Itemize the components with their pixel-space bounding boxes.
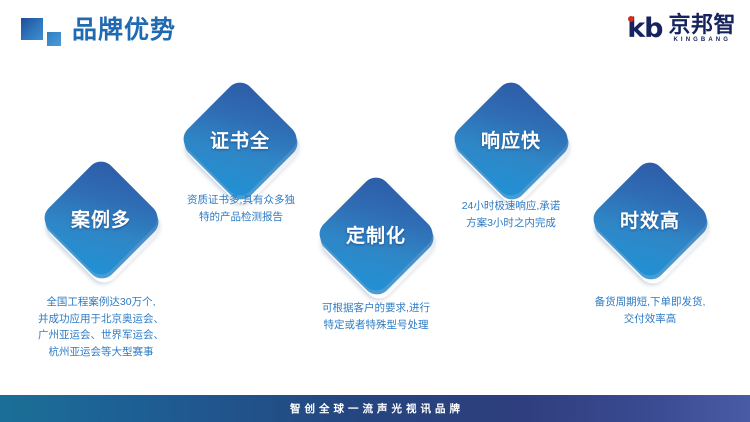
advantage-description-4: 24小时极速响应,承诺 方案3小时之内完成 [418,198,604,231]
advantage-card-5[interactable]: 时效高 [606,175,694,263]
advantage-label: 证书全 [196,95,284,183]
footer-slogan: 智创全球一流声光视讯品牌 [0,395,750,422]
brand-logo: kb 京邦智 KINGBANG [627,13,736,45]
advantage-card-4[interactable]: 响应快 [467,95,555,183]
advantage-label: 时效高 [606,175,694,263]
advantage-label: 响应快 [467,95,555,183]
advantage-description-3: 可根据客户的要求,进行 特定或者特殊型号处理 [283,300,469,333]
advantage-label: 案例多 [57,174,145,262]
decor-square-small-icon [47,32,61,46]
logo-brand-block: 京邦智 KINGBANG [668,14,736,44]
advantage-description-5: 备货周期短,下单即发货, 交付效率高 [557,294,743,327]
slide-header: 品牌优势 kb 京邦智 KINGBANG [0,0,750,58]
advantage-card-1[interactable]: 案例多 [57,174,145,262]
advantage-card-3[interactable]: 定制化 [332,190,420,278]
advantage-card-2[interactable]: 证书全 [196,95,284,183]
slide-footer: 智创全球一流声光视讯品牌 [0,395,750,422]
logo-mark: kb [627,14,662,44]
logo-brand-en: KINGBANG [668,36,736,44]
title-decoration [21,18,65,48]
advantage-label: 定制化 [332,190,420,278]
page-title: 品牌优势 [72,13,176,47]
decor-square-large-icon [21,18,43,40]
advantage-description-1: 全国工程案例达30万个, 并成功应用于北京奥运会、 广州亚运会、世界军运会、 杭… [8,294,194,360]
logo-brand-cn: 京邦智 [668,14,736,36]
advantage-description-2: 资质证书多,具有众多独 特的产品检测报告 [148,192,334,225]
slide-canvas: 品牌优势 kb 京邦智 KINGBANG 案例多 全国工程案例达30万个, 并成… [0,0,750,422]
